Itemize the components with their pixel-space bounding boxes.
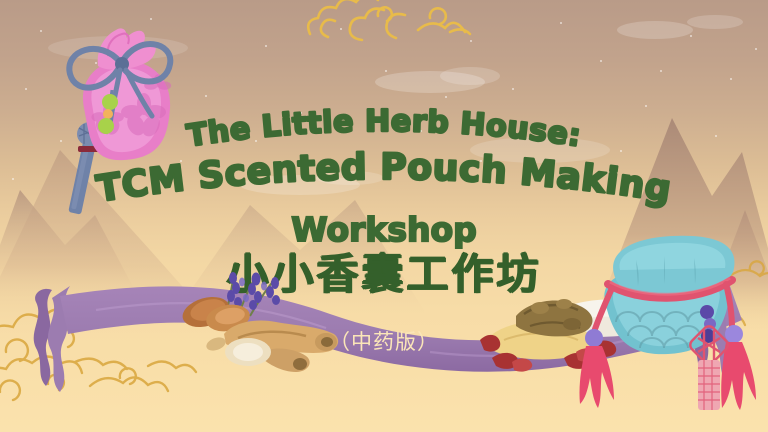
title-line-1-text: The Little Herb House:	[185, 104, 584, 154]
ginger-lavender-herbs-icon	[176, 268, 376, 378]
svg-text:The Little Herb House:: The Little Herb House:	[185, 104, 584, 154]
poster-canvas: The Little Herb House: TCM Scented Pouch…	[0, 0, 768, 432]
teal-chinese-pouch-icon	[576, 218, 761, 418]
pink-sachet-pouch-icon	[48, 16, 198, 226]
gold-auspicious-cloud-icon	[300, 0, 520, 57]
